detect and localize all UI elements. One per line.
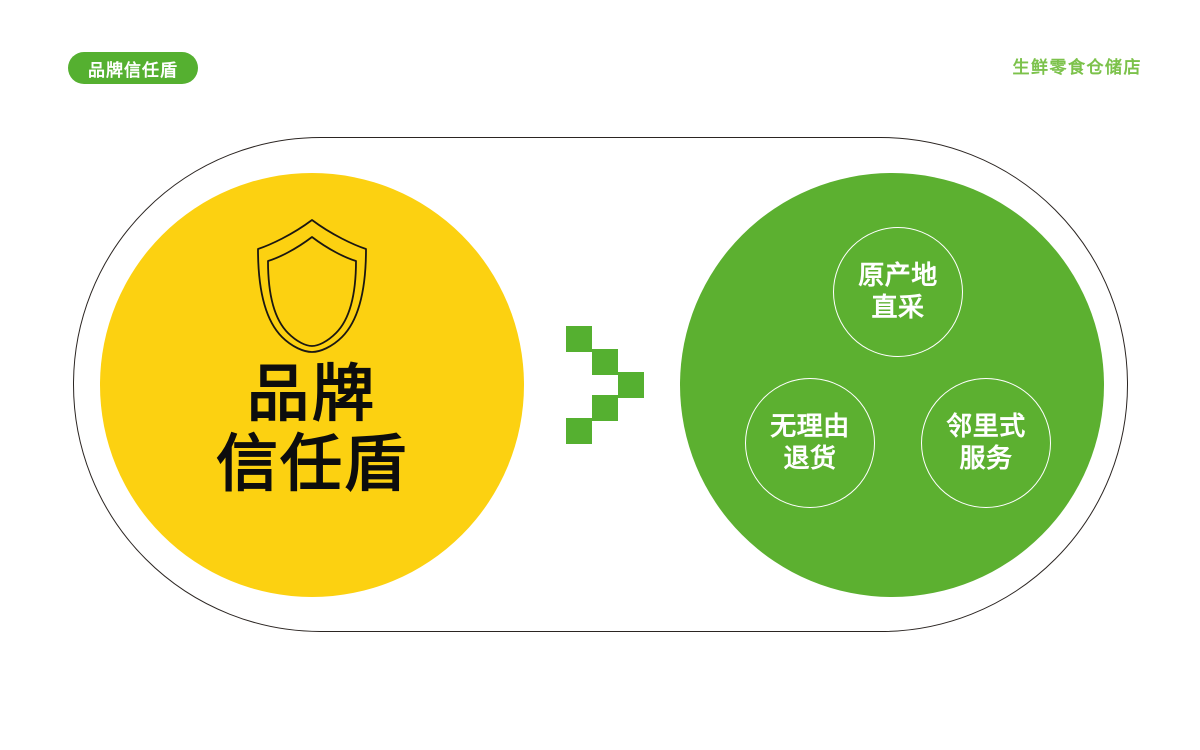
- pixel-chevron-right-icon: [566, 326, 646, 444]
- brand-badge: 品牌信任盾: [68, 52, 198, 84]
- chevron-square: [566, 326, 592, 352]
- pillar-item: 原产地 直采: [833, 227, 963, 357]
- pillar-label-line2: 直采: [871, 292, 924, 324]
- shield-outline-icon: [250, 215, 374, 355]
- page-header: 品牌信任盾 生鲜零食仓储店: [0, 0, 1200, 120]
- pillar-label-line2: 退货: [783, 443, 836, 475]
- brand-badge-label: 品牌信任盾: [88, 56, 178, 81]
- chevron-square: [566, 418, 592, 444]
- store-tagline: 生鲜零食仓储店: [1013, 54, 1143, 82]
- brand-title-line2: 信任盾: [100, 429, 524, 499]
- chevron-square: [592, 395, 618, 421]
- chevron-square: [592, 349, 618, 375]
- pillars-circle: 原产地 直采 无理由 退货 邻里式 服务: [680, 173, 1104, 597]
- pillar-label-line1: 邻里式: [946, 411, 1026, 443]
- chevron-square: [618, 372, 644, 398]
- brand-title-line1: 品牌: [100, 359, 524, 429]
- pillar-label-line1: 无理由: [770, 411, 850, 443]
- brand-title: 品牌 信任盾: [100, 359, 524, 499]
- pillar-item: 邻里式 服务: [921, 378, 1051, 508]
- brand-circle: 品牌 信任盾: [100, 173, 524, 597]
- pillar-label-line1: 原产地: [858, 260, 938, 292]
- pillar-label-line2: 服务: [959, 443, 1012, 475]
- pillar-item: 无理由 退货: [745, 378, 875, 508]
